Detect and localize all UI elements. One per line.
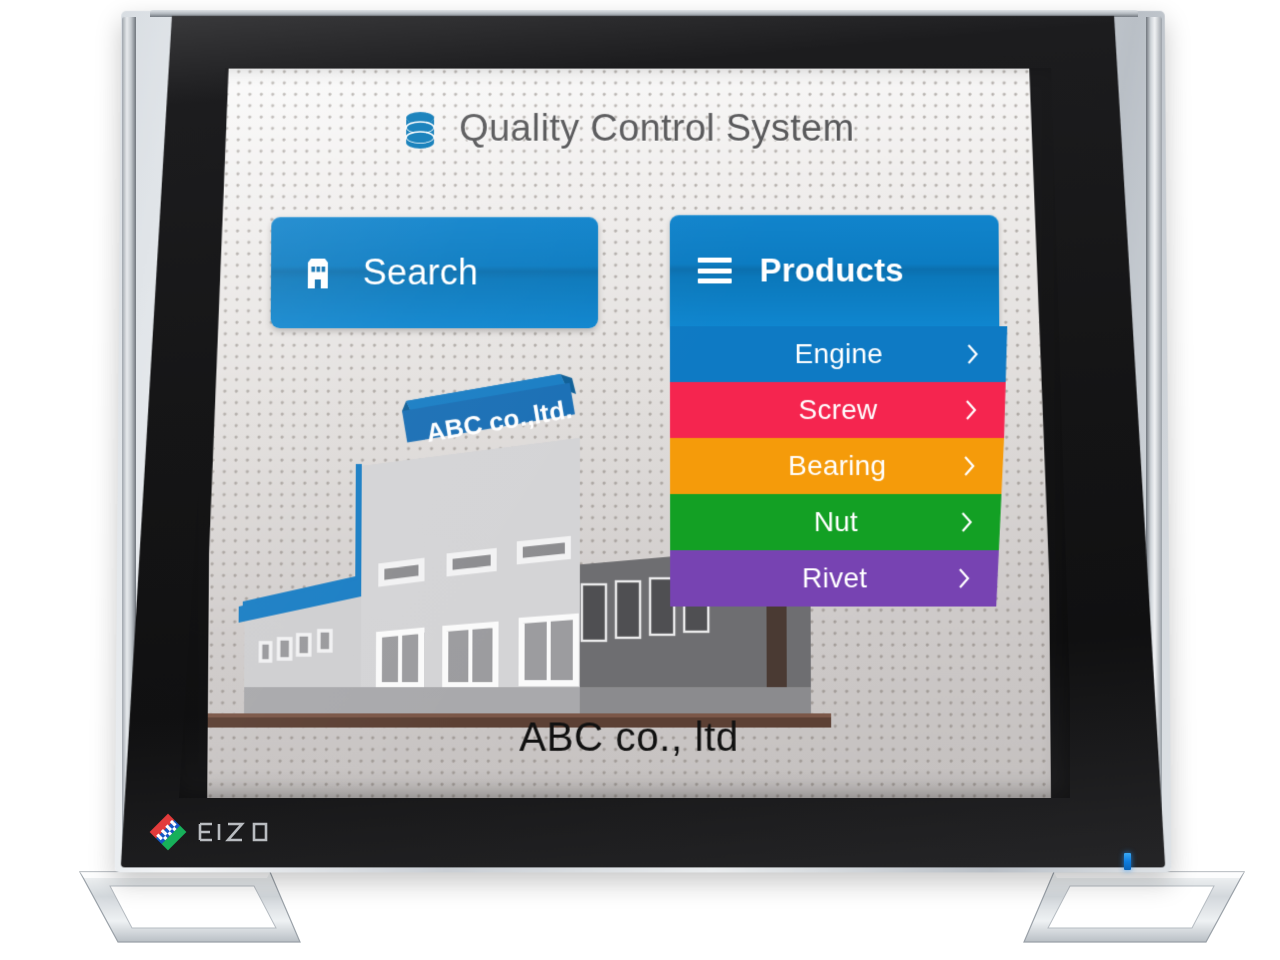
company-caption: ABC co., ltd [207,715,1050,761]
monitor-screen: Quality Control System [170,58,1070,798]
page-title: Quality Control System [459,108,854,151]
screenshot-root: Quality Control System [0,0,1280,960]
menu-item-engine[interactable]: Engine [670,326,1008,382]
products-menu-label: Products [760,252,904,290]
menu-item-rivet[interactable]: Rivet [670,550,999,606]
eizo-brand-logo [148,812,273,852]
products-menu-panel: Products Engine Screw [670,215,1022,607]
power-indicator-led[interactable] [1124,853,1131,870]
database-icon [403,110,437,150]
chevron-right-icon [965,399,978,421]
products-menu-list: Engine Screw [670,326,1021,606]
menu-item-screw[interactable]: Screw [670,382,1006,438]
menu-item-nut[interactable]: Nut [670,494,1002,550]
eizo-diamond-icon [148,812,188,852]
factory-building-icon [303,255,333,291]
search-button[interactable]: Search [271,217,598,328]
menu-item-label: Nut [814,506,858,538]
menu-item-label: Engine [795,338,883,370]
chevron-right-icon [963,455,976,477]
menu-item-bearing[interactable]: Bearing [670,438,1004,494]
menu-item-label: Screw [798,394,877,426]
eizo-wordmark-icon [197,821,273,843]
hamburger-menu-icon [698,258,732,284]
menu-item-label: Bearing [788,450,886,482]
products-menu-header[interactable]: Products [670,215,999,326]
menu-item-label: Rivet [802,562,867,594]
search-button-label: Search [363,252,479,294]
chevron-right-icon [961,511,974,533]
screen-content: Quality Control System [207,69,1051,801]
chevron-right-icon [958,567,971,589]
app-header: Quality Control System [212,108,1046,151]
chevron-right-icon [966,343,979,365]
monitor-stand-leg-right [1020,866,1250,948]
monitor-stand-leg-left [74,866,304,948]
